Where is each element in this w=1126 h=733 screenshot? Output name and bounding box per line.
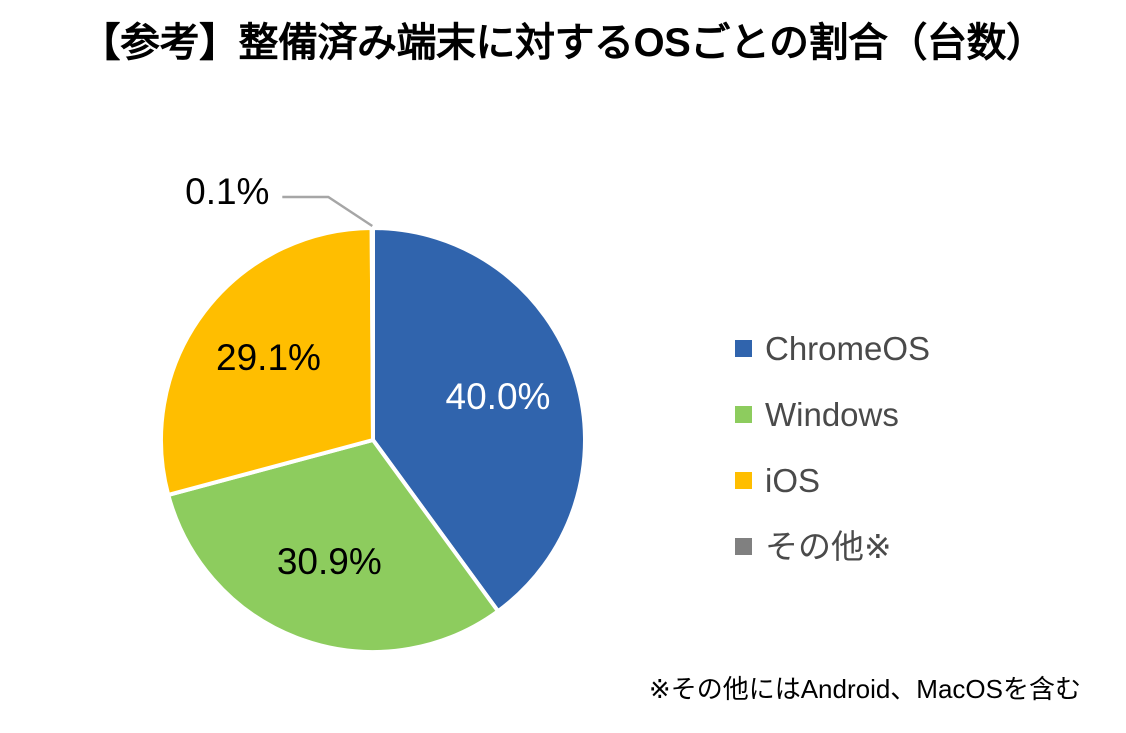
legend-label-windows: Windows bbox=[765, 398, 899, 431]
chart-legend: ChromeOS Windows iOS その他※ bbox=[735, 315, 1075, 579]
legend-swatch-chromeos bbox=[735, 340, 752, 357]
pie-leader-line-other bbox=[282, 197, 372, 226]
pie-label-windows: 30.9% bbox=[277, 541, 382, 582]
pie-slices bbox=[161, 228, 585, 652]
pie-slice-other[interactable] bbox=[372, 228, 373, 440]
legend-item-windows[interactable]: Windows bbox=[735, 381, 1075, 447]
pie-label-chromeos: 40.0% bbox=[446, 376, 551, 417]
pie-leader-lines bbox=[282, 197, 372, 226]
legend-item-ios[interactable]: iOS bbox=[735, 447, 1075, 513]
chart-footnote: ※その他にはAndroid、MacOSを含む bbox=[649, 669, 1081, 706]
legend-label-chromeos: ChromeOS bbox=[765, 332, 930, 365]
pie-label-ios: 29.1% bbox=[216, 337, 321, 378]
legend-item-other[interactable]: その他※ bbox=[735, 513, 1075, 579]
legend-swatch-other bbox=[735, 538, 752, 555]
pie-label-other: 0.1% bbox=[185, 171, 269, 212]
legend-swatch-ios bbox=[735, 472, 752, 489]
chart-page: 【参考】整備済み端末に対するOSごとの割合（台数） 40.0%30.9%29.1… bbox=[0, 0, 1126, 733]
legend-label-other: その他※ bbox=[765, 530, 892, 563]
legend-swatch-windows bbox=[735, 406, 752, 423]
legend-item-chromeos[interactable]: ChromeOS bbox=[735, 315, 1075, 381]
legend-label-ios: iOS bbox=[765, 464, 820, 497]
